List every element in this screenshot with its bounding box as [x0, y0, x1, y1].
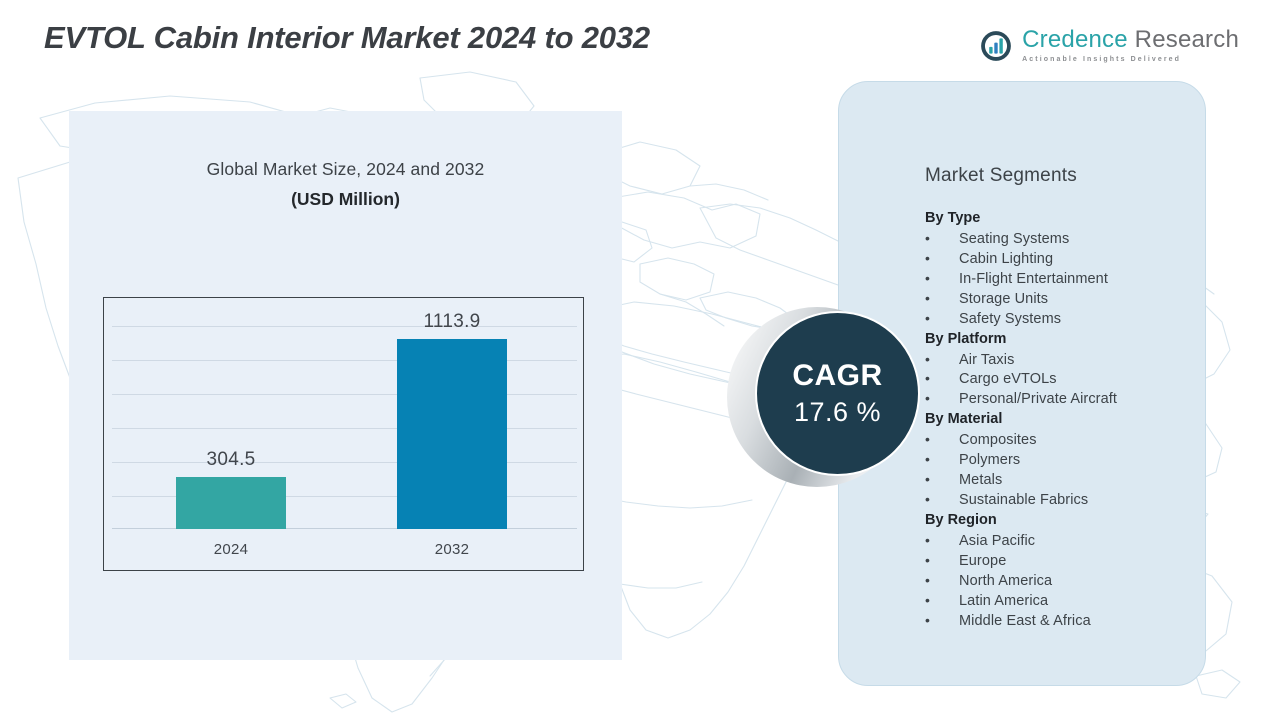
segment-list-item: •Storage Units [925, 289, 1195, 309]
bullet-icon: • [925, 551, 959, 570]
segment-item-label: Composites [959, 431, 1037, 450]
cagr-badge: CAGR 17.6 % [755, 311, 920, 476]
segment-item-label: Metals [959, 471, 1002, 490]
segment-item-label: Safety Systems [959, 310, 1061, 329]
segment-list-item: •North America [925, 571, 1195, 591]
bullet-icon: • [925, 249, 959, 268]
logo-wordmark: Credence Research [1022, 28, 1239, 52]
bullet-icon: • [925, 571, 959, 590]
segment-item-label: Cabin Lighting [959, 250, 1053, 269]
segment-item-label: Polymers [959, 451, 1020, 470]
segment-item-label: Cargo eVTOLs [959, 370, 1057, 389]
segment-item-label: Europe [959, 552, 1006, 571]
gridline [112, 428, 577, 429]
segment-item-label: Air Taxis [959, 351, 1014, 370]
bar-2032 [397, 339, 507, 529]
segment-group-title: By Region [925, 511, 1195, 530]
bullet-icon: • [925, 229, 959, 248]
segment-list-item: •Polymers [925, 450, 1195, 470]
segment-group-title: By Material [925, 410, 1195, 429]
segment-list-item: •Latin America [925, 591, 1195, 611]
segments-list: By Type•Seating Systems•Cabin Lighting•I… [925, 208, 1195, 630]
segment-list-item: •Seating Systems [925, 229, 1195, 249]
bar-value-2024: 304.5 [166, 449, 296, 471]
bullet-icon: • [925, 350, 959, 369]
bullet-icon: • [925, 289, 959, 308]
bullet-icon: • [925, 369, 959, 388]
header: EVTOL Cabin Interior Market 2024 to 2032… [0, 0, 1267, 80]
segment-list-item: •Air Taxis [925, 350, 1195, 370]
segment-list-item: •Asia Pacific [925, 531, 1195, 551]
brand-logo: Credence Research Actionable Insights De… [979, 28, 1239, 63]
logo-word-research: Research [1135, 26, 1239, 53]
segment-list-item: •Middle East & Africa [925, 611, 1195, 631]
segment-item-label: In-Flight Entertainment [959, 270, 1108, 289]
segment-item-label: North America [959, 572, 1052, 591]
market-size-panel: Global Market Size, 2024 and 2032 (USD M… [69, 111, 622, 660]
gridline [112, 360, 577, 361]
segment-item-label: Storage Units [959, 290, 1048, 309]
segment-group-title: By Type [925, 209, 1195, 228]
bullet-icon: • [925, 591, 959, 610]
logo-text: Credence Research Actionable Insights De… [1022, 28, 1239, 63]
page-title: EVTOL Cabin Interior Market 2024 to 2032 [44, 20, 650, 56]
category-label-2032: 2032 [387, 541, 517, 558]
bar-chart: 304.5 1113.9 2024 2032 [103, 297, 584, 571]
segment-list-item: •Cabin Lighting [925, 249, 1195, 269]
segment-list-item: •Cargo eVTOLs [925, 369, 1195, 389]
category-label-2024: 2024 [166, 541, 296, 558]
chart-subtitle: (USD Million) [69, 189, 622, 210]
segment-list-item: •Personal/Private Aircraft [925, 389, 1195, 409]
segment-list-item: •Composites [925, 430, 1195, 450]
bullet-icon: • [925, 389, 959, 408]
bullet-icon: • [925, 269, 959, 288]
segment-item-label: Latin America [959, 592, 1048, 611]
segment-list-item: •In-Flight Entertainment [925, 269, 1195, 289]
segment-group-title: By Platform [925, 330, 1195, 349]
bullet-icon: • [925, 450, 959, 469]
chart-heading: Global Market Size, 2024 and 2032 (USD M… [69, 159, 622, 210]
bullet-icon: • [925, 611, 959, 630]
segment-item-label: Asia Pacific [959, 532, 1035, 551]
logo-word-credence: Credence [1022, 26, 1128, 53]
bullet-icon: • [925, 490, 959, 509]
cagr-label: CAGR [792, 361, 882, 391]
segments-heading: Market Segments [925, 165, 1077, 187]
bullet-icon: • [925, 470, 959, 489]
bar-value-2032: 1113.9 [387, 311, 517, 333]
logo-tagline: Actionable Insights Delivered [1022, 56, 1239, 63]
segment-list-item: •Metals [925, 470, 1195, 490]
chart-title: Global Market Size, 2024 and 2032 [69, 159, 622, 180]
segment-item-label: Personal/Private Aircraft [959, 390, 1117, 409]
bullet-icon: • [925, 430, 959, 449]
bar-2024 [176, 477, 286, 529]
segment-list-item: •Sustainable Fabrics [925, 490, 1195, 510]
segment-list-item: •Safety Systems [925, 309, 1195, 329]
segment-item-label: Middle East & Africa [959, 612, 1091, 631]
gridline [112, 394, 577, 395]
segment-item-label: Seating Systems [959, 230, 1069, 249]
segment-item-label: Sustainable Fabrics [959, 491, 1088, 510]
cagr-value: 17.6 % [794, 399, 881, 426]
bullet-icon: • [925, 309, 959, 328]
bar-chart-circle-icon [979, 29, 1013, 63]
bullet-icon: • [925, 531, 959, 550]
segment-list-item: •Europe [925, 551, 1195, 571]
